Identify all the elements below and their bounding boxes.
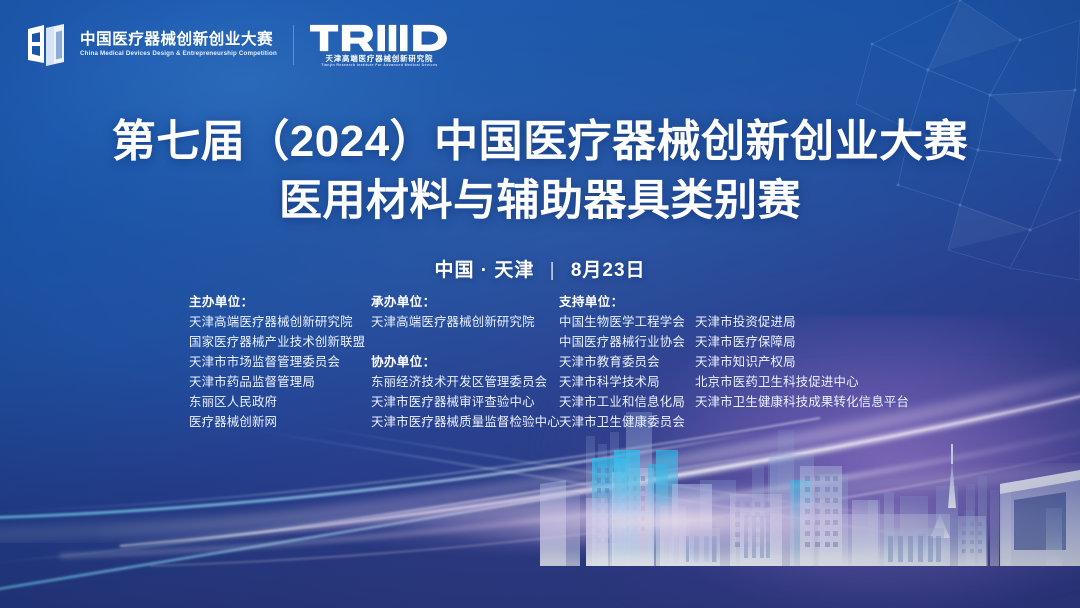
poster-title-line1: 第七届（2024）中国医疗器械创新创业大赛: [0, 116, 1080, 168]
undertaker-item: 天津高端医疗器械创新研究院: [371, 312, 559, 332]
event-poster: 中国医疗器械创新创业大赛 China Medical Devices Desig…: [0, 0, 1080, 608]
supporter-item: 天津市教育委员会: [559, 352, 695, 372]
logo-divider: [293, 25, 294, 65]
supporter-item: 天津市工业和信息化局: [559, 392, 695, 412]
host-item: 医疗器械创新网: [189, 412, 371, 432]
supporter-item: 中国医疗器械行业协会: [559, 332, 695, 352]
institute-logo-cn: 天津高端医疗器械创新研究院: [325, 55, 433, 62]
poster-title-block: 第七届（2024）中国医疗器械创新创业大赛 医用材料与辅助器具类别赛: [0, 116, 1080, 227]
subtitle-separator: |: [550, 260, 556, 282]
host-item: 东丽区人民政府: [189, 392, 371, 412]
institute-logo-en: Tianjin Research Institute For Advanced …: [321, 64, 438, 68]
host-item: 天津高端医疗器械创新研究院: [189, 312, 371, 332]
supporter-item: 中国生物医学工程学会: [559, 312, 695, 332]
institute-logo[interactable]: 天津高端医疗器械创新研究院 Tianjin Research Institute…: [310, 23, 449, 68]
supporter-item: 天津市卫生健康科技成果转化信息平台: [695, 392, 905, 412]
competition-logo-en: China Medical Devices Design & Entrepren…: [80, 51, 277, 58]
competition-logo-cn: 中国医疗器械创新创业大赛: [80, 32, 277, 48]
supporter-item: 天津市投资促进局: [695, 312, 905, 332]
coorganizer-item: 天津市医疗器械审评查验中心: [371, 392, 559, 412]
supporter-heading: 支持单位：: [559, 292, 695, 312]
organizers-column-supporter-b: 天津市投资促进局 天津市医疗保障局 天津市知识产权局 北京市医药卫生科技促进中心…: [695, 292, 905, 412]
competition-logo-text: 中国医疗器械创新创业大赛 China Medical Devices Desig…: [80, 32, 277, 57]
host-item: 国家医疗器械产业技术创新联盟: [189, 332, 371, 352]
supporter-item: 北京市医药卫生科技促进中心: [695, 372, 905, 392]
open-book-door-logo-icon: [24, 22, 70, 68]
poster-header: 中国医疗器械创新创业大赛 China Medical Devices Desig…: [0, 0, 1080, 88]
subtitle-location: 中国 · 天津: [434, 260, 534, 281]
supporter-item: 天津市科学技术局: [559, 372, 695, 392]
supporter-item: 天津市医疗保障局: [695, 332, 905, 352]
logo-group: 中国医疗器械创新创业大赛 China Medical Devices Desig…: [24, 22, 449, 68]
undertaker-heading: 承办单位：: [371, 292, 559, 312]
coorganizer-heading: 协办单位：: [371, 352, 559, 372]
organizers-column-host: 主办单位： 天津高端医疗器械创新研究院 国家医疗器械产业技术创新联盟 天津市市场…: [189, 292, 371, 432]
host-heading: 主办单位：: [189, 292, 371, 312]
competition-logo[interactable]: 中国医疗器械创新创业大赛 China Medical Devices Desig…: [24, 22, 277, 68]
organizers-block: 主办单位： 天津高端医疗器械创新研究院 国家医疗器械产业技术创新联盟 天津市市场…: [189, 292, 949, 432]
organizers-column-supporter-a: 支持单位： 中国生物医学工程学会 中国医疗器械行业协会 天津市教育委员会 天津市…: [559, 292, 695, 432]
organizers-column-undertaker: 承办单位： 天津高端医疗器械创新研究院 协办单位： 东丽经济技术开发区管理委员会…: [371, 292, 559, 432]
host-item: 天津市市场监督管理委员会: [189, 352, 371, 372]
trmd-wordmark-icon: [310, 23, 449, 53]
poster-title-line2: 医用材料与辅助器具类别赛: [0, 176, 1080, 227]
host-item: 天津市药品监督管理局: [189, 372, 371, 392]
subtitle-date: 8月23日: [571, 260, 646, 281]
supporter-item: 天津市卫生健康委员会: [559, 412, 695, 432]
coorganizer-item: 东丽经济技术开发区管理委员会: [371, 372, 559, 392]
supporter-item: 天津市知识产权局: [695, 352, 905, 372]
poster-subtitle: 中国 · 天津 | 8月23日: [0, 255, 1080, 282]
organizers-spacer: [371, 332, 559, 352]
coorganizer-item: 天津市医疗器械质量监督检验中心: [371, 412, 559, 432]
